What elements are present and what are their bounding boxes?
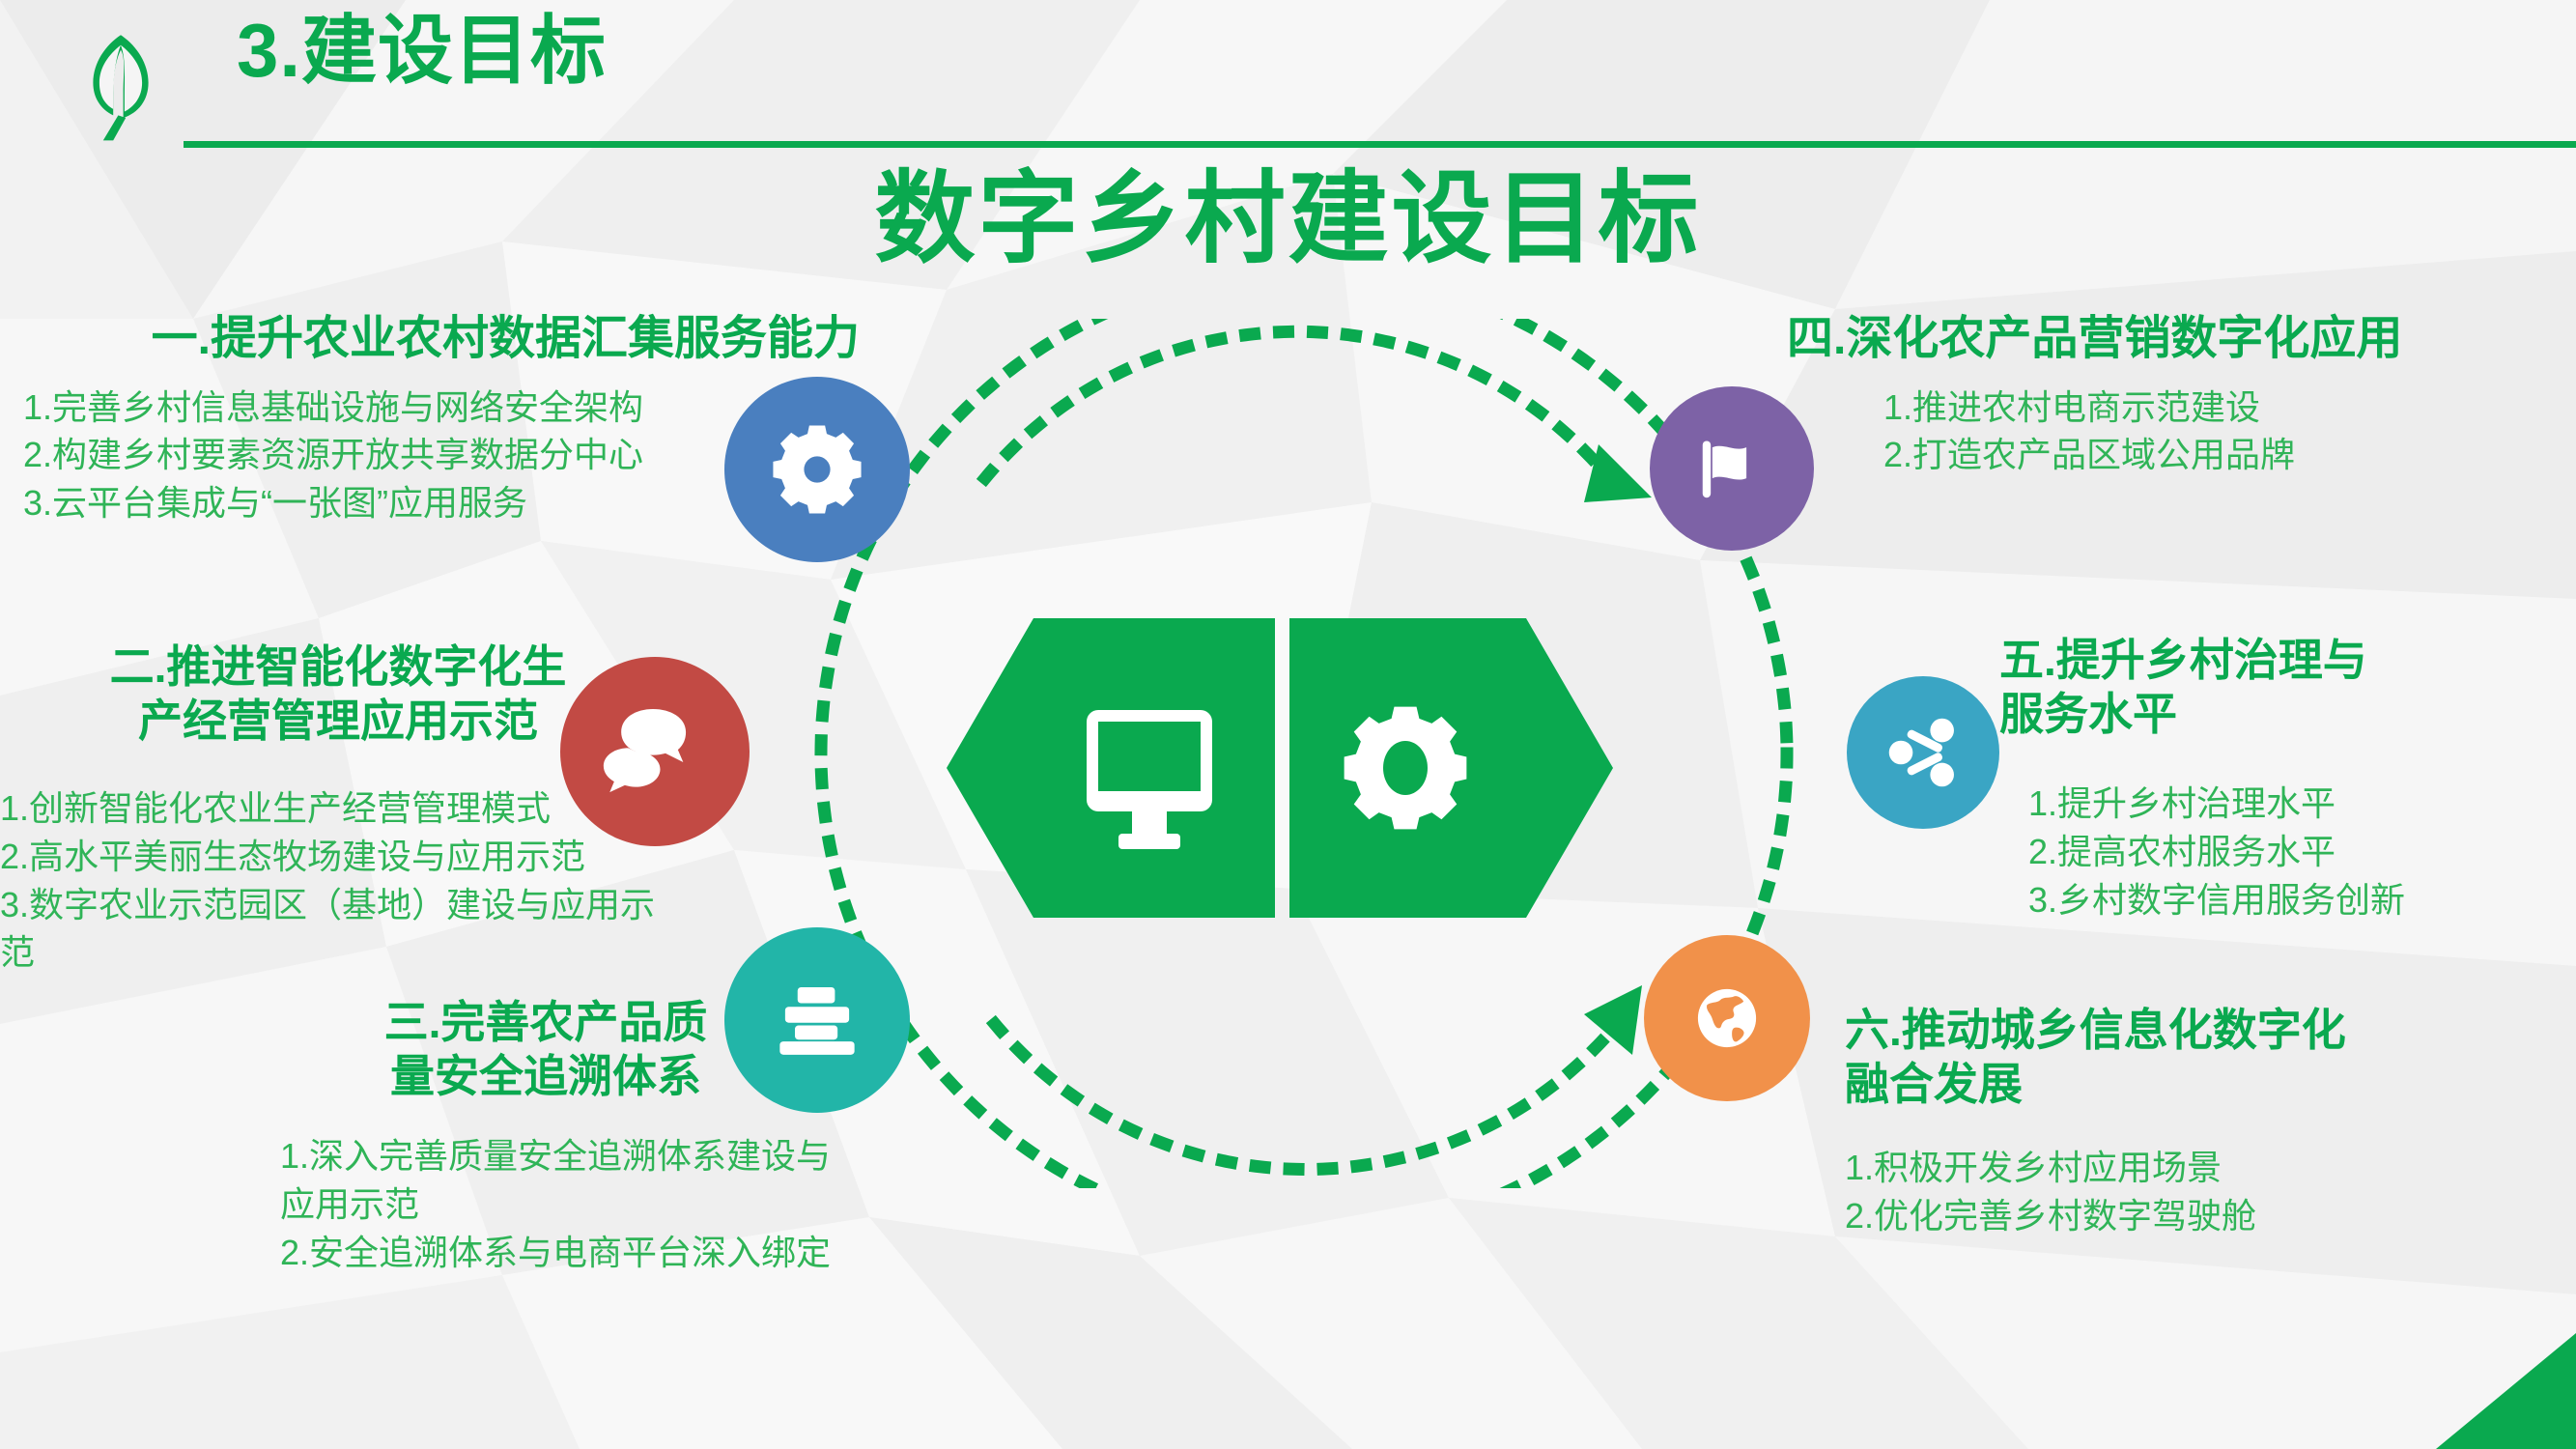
share-network-icon <box>1883 713 1963 792</box>
section-4-list: 1.推进农村电商示范建设 2.打造农产品区域公用品牌 <box>1729 384 2569 479</box>
center-left-panel <box>947 618 1275 918</box>
list-item: 2.打造农产品区域公用品牌 <box>1883 431 2569 479</box>
section-4-heading: 四.深化农产品营销数字化应用 <box>1729 311 2569 368</box>
section-2-heading-line-1: 二.推进智能化数字化生 <box>0 639 676 694</box>
slide-header: 3.建设目标 <box>0 0 2576 155</box>
list-item: 3.云平台集成与“一张图”应用服务 <box>23 479 879 527</box>
list-item: 2.构建乡村要素资源开放共享数据分中心 <box>23 431 879 479</box>
section-6: 六.推动城乡信息化数字化 融合发展 1.积极开发乡村应用场景 2.优化完善乡村数… <box>1845 1003 2569 1240</box>
section-6-heading-line-2: 融合发展 <box>1845 1057 2569 1111</box>
list-item: 1.深入完善质量安全追溯体系建设与应用示范 <box>280 1132 860 1228</box>
corner-accent-triangle <box>2344 1333 2576 1449</box>
badge-section-5[interactable] <box>1847 676 1999 829</box>
main-title: 数字乡村建设目标 <box>0 162 2576 278</box>
gear-icon <box>1345 707 1467 830</box>
list-item: 3.数字农业示范园区（基地）建设与应用示范 <box>0 881 657 977</box>
section-1-list: 1.完善乡村信息基础设施与网络安全架构 2.构建乡村要素资源开放共享数据分中心 … <box>10 384 879 527</box>
list-item: 1.推进农村电商示范建设 <box>1883 384 2569 432</box>
section-3-heading: 三.完善农产品质 量安全追溯体系 <box>164 995 927 1103</box>
section-1-heading: 一.提升农业农村数据汇集服务能力 <box>10 311 879 368</box>
section-1: 一.提升农业农村数据汇集服务能力 1.完善乡村信息基础设施与网络安全架构 2.构… <box>10 311 879 527</box>
list-item: 1.完善乡村信息基础设施与网络安全架构 <box>23 384 879 432</box>
center-right-panel <box>1289 618 1613 918</box>
section-6-heading-line-1: 六.推动城乡信息化数字化 <box>1845 1003 2569 1057</box>
list-item: 1.积极开发乡村应用场景 <box>1845 1144 2569 1192</box>
section-6-heading: 六.推动城乡信息化数字化 融合发展 <box>1845 1003 2569 1111</box>
section-3-list: 1.深入完善质量安全追溯体系建设与应用示范 2.安全追溯体系与电商平台深入绑定 <box>164 1132 927 1276</box>
list-item: 2.提高农村服务水平 <box>2028 828 2569 876</box>
section-5-heading-line-1: 五.提升乡村治理与 <box>1999 633 2569 687</box>
list-item: 1.提升乡村治理水平 <box>2028 780 2569 828</box>
page-title: 3.建设目标 <box>237 10 607 93</box>
list-item: 2.优化完善乡村数字驾驶舱 <box>1845 1192 2569 1240</box>
section-5-list: 1.提升乡村治理水平 2.提高农村服务水平 3.乡村数字信用服务创新 <box>1999 780 2569 923</box>
section-2-heading: 二.推进智能化数字化生 产经营管理应用示范 <box>0 639 676 748</box>
section-5-heading: 五.提升乡村治理与 服务水平 <box>1999 633 2569 741</box>
leaf-icon <box>58 17 184 143</box>
header-divider <box>184 141 2576 148</box>
section-5: 五.提升乡村治理与 服务水平 1.提升乡村治理水平 2.提高农村服务水平 3.乡… <box>1999 633 2569 923</box>
section-3: 三.完善农产品质 量安全追溯体系 1.深入完善质量安全追溯体系建设与应用示范 2… <box>164 995 927 1276</box>
list-item: 3.乡村数字信用服务创新 <box>2028 876 2569 924</box>
badge-section-6[interactable] <box>1644 935 1810 1101</box>
list-item: 2.安全追溯体系与电商平台深入绑定 <box>280 1229 927 1277</box>
slide-canvas: 3.建设目标 数字乡村建设目标 <box>0 0 2576 1449</box>
globe-icon <box>1685 977 1769 1060</box>
section-2: 二.推进智能化数字化生 产经营管理应用示范 1.创新智能化农业生产经营管理模式 … <box>0 639 676 977</box>
section-5-heading-line-2: 服务水平 <box>1999 687 2569 741</box>
list-item: 1.创新智能化农业生产经营管理模式 <box>0 784 676 833</box>
list-item: 2.高水平美丽生态牧场建设与应用示范 <box>0 833 676 881</box>
section-3-heading-line-2: 量安全追溯体系 <box>164 1049 927 1103</box>
section-2-list: 1.创新智能化农业生产经营管理模式 2.高水平美丽生态牧场建设与应用示范 3.数… <box>0 784 676 977</box>
section-2-heading-line-2: 产经营管理应用示范 <box>0 694 676 748</box>
section-6-list: 1.积极开发乡村应用场景 2.优化完善乡村数字驾驶舱 <box>1845 1144 2569 1239</box>
section-4: 四.深化农产品营销数字化应用 1.推进农村电商示范建设 2.打造农产品区域公用品… <box>1729 311 2569 479</box>
section-3-heading-line-1: 三.完善农产品质 <box>164 995 927 1049</box>
center-hexagon-graphic <box>942 604 1618 932</box>
